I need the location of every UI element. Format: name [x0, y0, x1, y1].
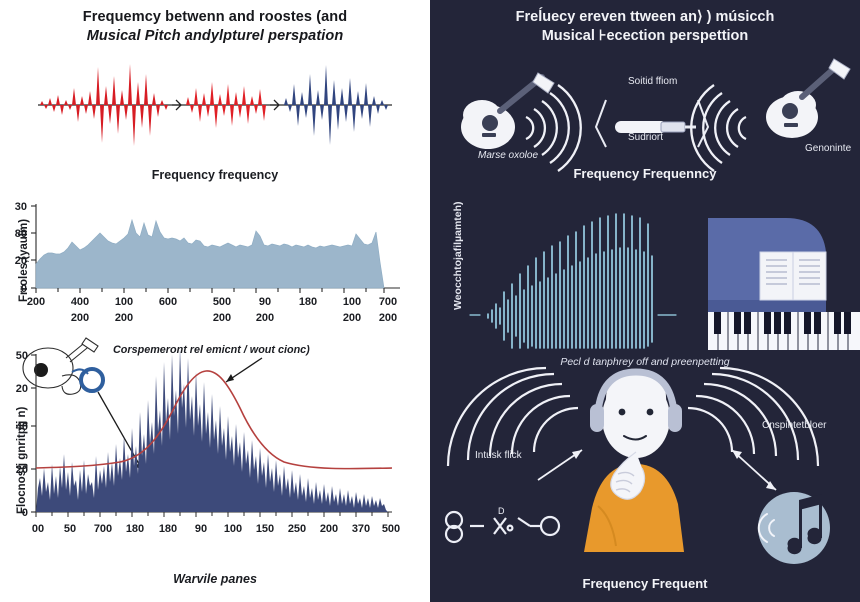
chart3-xtick-2: 700 [94, 523, 112, 535]
chart3-xtick-marks [36, 512, 388, 517]
chart3-xtick-0: 00 [32, 523, 44, 535]
piano-icon [708, 218, 860, 350]
waveform-burst-red-2 [186, 82, 266, 128]
right-panel: Freĺuecy ereven ttween an⟩ ) músicch Mus… [430, 0, 860, 602]
chart1-ytick-0: 30 [15, 201, 27, 213]
chart1-xtick-4: 500 [213, 296, 231, 308]
waveform-burst-blue [284, 65, 388, 145]
label-support: Sudriort [628, 132, 663, 143]
chart3-xtick-11: 500 [382, 523, 400, 535]
chart1-xsub-4: 200 [213, 312, 231, 324]
chart3-xtick-7: 150 [256, 523, 274, 535]
chart3-xtick-6: 100 [224, 523, 242, 535]
chart1-xsub-8: 200 [379, 312, 397, 324]
left-bottom-caption: Warvile panes [0, 572, 430, 586]
label-intusk-flick: Intusk flick [475, 450, 522, 461]
waveform-strip [10, 62, 420, 148]
chart1-ytick-marks [31, 206, 36, 288]
chart1-xtick-7: 100 [343, 296, 361, 308]
cyan-waveform-icon [470, 214, 676, 348]
left-panel: Frequemcy betwenn and roostes (and Music… [0, 0, 430, 602]
right-title-line-2: Musical ⊦ecection perspettion [430, 27, 860, 46]
chart1-xtick-8: 700 [379, 296, 397, 308]
chart3-xtick-8: 250 [288, 523, 306, 535]
chart3-xtick-9: 200 [320, 523, 338, 535]
chart1-xtick-1: 400 [71, 296, 89, 308]
right-mid-caption: Pecl d tanphrey off and preenpetting [430, 356, 860, 368]
left-panel-title: Frequemcy betwenn and roostes (and Music… [0, 8, 430, 45]
right-title-line-1: Freĺuecy ereven ttween an⟩ ) músicch [430, 8, 860, 27]
arrow-left-icon [538, 450, 582, 480]
right-mid-title-a: Frequency Frequenncy [573, 166, 716, 181]
guitar-sketch-icon [23, 338, 103, 394]
chart1-ylabel: Frroles,(yauim) [18, 219, 30, 302]
svg-text:D: D [498, 506, 505, 516]
chart1-xtick-marks [36, 288, 384, 293]
label-receiver: Genoninte [805, 143, 851, 154]
chart3-ylabel: Flocnos(j gnritpjj n) [16, 407, 28, 514]
annotation-arrow-1-icon [226, 358, 262, 382]
chart-frequency-area: Frroles,(yauim) 30 80 20 0 [0, 198, 430, 333]
waveform-burst-red-1 [40, 64, 168, 146]
chart1-xtick-2: 100 [115, 296, 133, 308]
chart3-xtick-5: 90 [195, 523, 207, 535]
chart1-xtick-3: 600 [159, 296, 177, 308]
chart1-xsub-2: 200 [115, 312, 133, 324]
chart1-area-series [36, 220, 384, 288]
chart3-ytick-0: 50 [16, 350, 28, 362]
chart1-xtick-5: 90 [259, 296, 271, 308]
guitar-left-icon [461, 73, 554, 149]
sound-waves-right-icon [691, 85, 746, 171]
right-mid-title: Frequency Frequenncy [430, 166, 860, 181]
waveform-caption-text: Frequency frequency [152, 168, 278, 182]
guitar-right-icon [766, 59, 850, 138]
music-badge-icon [758, 492, 830, 564]
chart-pitch-spectrum: Flocnos(j gnritpjj n) [0, 336, 430, 551]
chart1-xsub-5: 200 [256, 312, 274, 324]
chart3-ytick-1: 20 [16, 383, 28, 395]
chart3-xtick-3: 180 [126, 523, 144, 535]
formula-glyph-icon: D [446, 506, 559, 542]
listener-scene: D [430, 368, 860, 578]
left-title-line-1: Frequemcy betwenn and roostes (and [0, 8, 430, 27]
label-cnspintetbloer: Cnspintetbloer [762, 420, 826, 431]
chart3-ytick-marks [31, 355, 36, 512]
right-bottom-caption: Frequency Frequent [430, 576, 860, 591]
waveform-caption: Frequency frequency [0, 168, 430, 182]
chart3-xtick-1: 50 [64, 523, 76, 535]
arrow-right-icon [732, 450, 776, 490]
chart3-xtick-4: 180 [159, 523, 177, 535]
chart1-xtick-6: 180 [299, 296, 317, 308]
left-title-line-2: Musical Pitch andylpturel perspation [0, 27, 430, 46]
listener-person-icon [584, 370, 684, 552]
waves-right-icon [688, 368, 818, 466]
chart1-xsub-1: 200 [71, 312, 89, 324]
label-sound-from: Soitid ffiom [628, 76, 677, 87]
chart3-xtick-10: 370 [352, 523, 370, 535]
piano-keyboard-icon [708, 312, 860, 350]
arrow-1-icon [172, 100, 181, 110]
bracket-left-icon [596, 100, 606, 147]
page-root: Frequemcy betwenn and roostes (and Music… [0, 0, 860, 602]
right-panel-title: Freĺuecy ereven ttween an⟩ ) músicch Mus… [430, 8, 860, 46]
waveform-piano-group [430, 196, 860, 351]
label-source: Marse oxoloe [478, 150, 538, 161]
chart1-xsub-7: 200 [343, 312, 361, 324]
arrow-2-icon [270, 100, 279, 110]
